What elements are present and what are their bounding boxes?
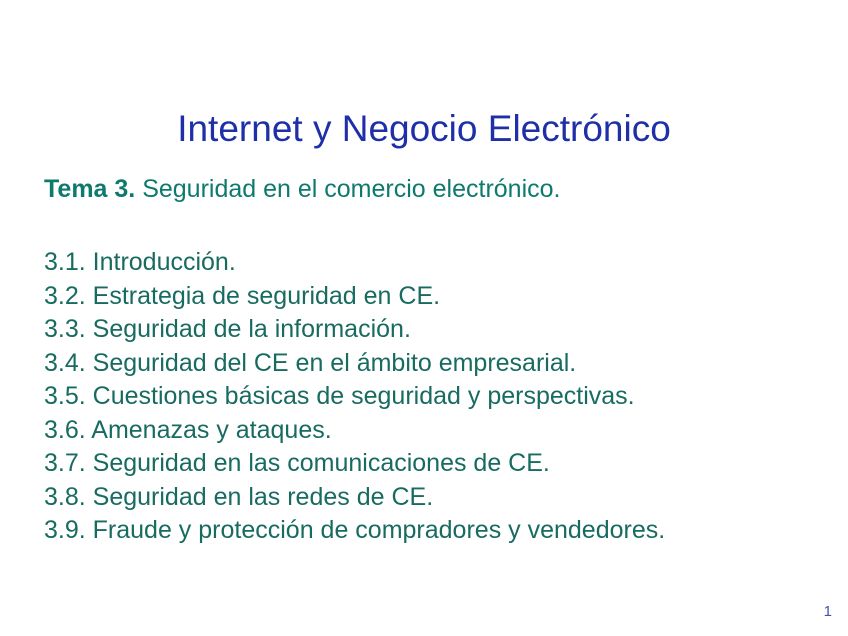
list-item: 3.2. Estrategia de seguridad en CE. [44,280,814,314]
slide-body: Tema 3. Seguridad en el comercio electró… [44,174,814,548]
page-title: Internet y Negocio Electrónico [0,107,848,151]
list-item: 3.6. Amenazas y ataques. [44,414,814,448]
list-item: 3.9. Fraude y protección de compradores … [44,514,814,548]
topic-title-text: Seguridad en el comercio electrónico. [135,175,560,203]
list-item: 3.5. Cuestiones básicas de seguridad y p… [44,380,814,414]
topic-heading: Tema 3. Seguridad en el comercio electró… [44,174,814,204]
list-item: 3.1. Introducción. [44,246,814,280]
body-spacer [44,208,814,246]
table-of-contents: 3.1. Introducción. 3.2. Estrategia de se… [44,246,814,548]
topic-number-label: Tema 3. [44,175,135,203]
list-item: 3.3. Seguridad de la información. [44,313,814,347]
page-number: 1 [824,603,832,620]
list-item: 3.7. Seguridad en las comunicaciones de … [44,447,814,481]
list-item: 3.4. Seguridad del CE en el ámbito empre… [44,347,814,381]
list-item: 3.8. Seguridad en las redes de CE. [44,481,814,515]
presentation-slide: Internet y Negocio Electrónico Tema 3. S… [0,0,848,636]
